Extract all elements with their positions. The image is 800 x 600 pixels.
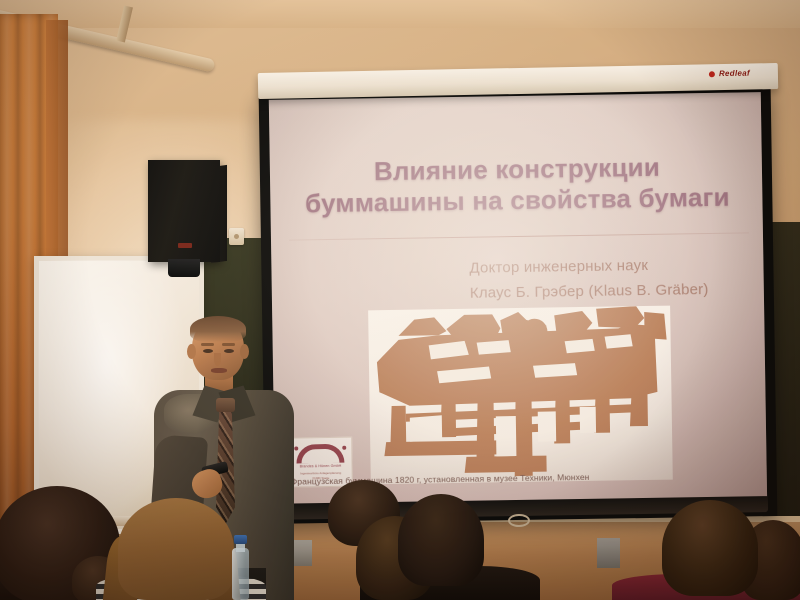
presenter-brow-left bbox=[201, 343, 214, 346]
slide-title: Влияние конструкции буммашины на свойств… bbox=[286, 150, 749, 219]
brand-dot-icon bbox=[709, 71, 715, 77]
screen-brand-label: Redleaf bbox=[709, 69, 750, 79]
logo-company-name: Brandes & Hünen GmbH bbox=[300, 464, 342, 470]
slide-title-divider bbox=[289, 232, 749, 240]
slide-subtitle-author: Клаус Б. Грэбер (Klaus B. Gräber) bbox=[470, 277, 767, 301]
slide-photo-paper-machine bbox=[368, 306, 673, 485]
presentation-slide: Влияние конструкции буммашины на свойств… bbox=[269, 92, 767, 512]
presenter-hair bbox=[190, 316, 246, 342]
audience-member-head bbox=[662, 500, 758, 596]
presenter-necktie-knot bbox=[216, 398, 235, 412]
water-bottle bbox=[232, 548, 249, 600]
power-outlet-socket bbox=[234, 234, 239, 239]
presenter-eye-left bbox=[203, 349, 213, 353]
brand-name: Redleaf bbox=[719, 69, 750, 79]
logo-arc-mark-icon bbox=[296, 444, 344, 464]
presenter-nose bbox=[214, 353, 221, 366]
presenter-ear-right bbox=[240, 344, 249, 359]
paper-machine-silhouette-icon bbox=[368, 306, 673, 485]
slide-title-line-2: буммашины на свойства бумаги bbox=[286, 181, 748, 219]
water-bottle-cap bbox=[234, 535, 247, 544]
lecture-photo: Влияние конструкции буммашины на свойств… bbox=[0, 0, 800, 600]
slide-subtitle-credential: Доктор инженерных наук bbox=[469, 253, 767, 277]
logo-company-tagline: Ingenieurbüro Anlagenplanung bbox=[300, 470, 341, 475]
speaker-brand-badge bbox=[178, 243, 192, 248]
presenter-brow-right bbox=[222, 343, 235, 346]
audience-member-head bbox=[118, 498, 234, 600]
floor-box bbox=[597, 538, 620, 568]
presenter-eye-right bbox=[224, 349, 234, 353]
audience-member-head bbox=[398, 494, 484, 586]
presenter-ear-left bbox=[187, 344, 196, 359]
projection-screen-surface: Влияние конструкции буммашины на свойств… bbox=[269, 92, 767, 512]
presenter-mouth bbox=[211, 368, 227, 373]
speaker-mount-bracket bbox=[168, 259, 200, 277]
